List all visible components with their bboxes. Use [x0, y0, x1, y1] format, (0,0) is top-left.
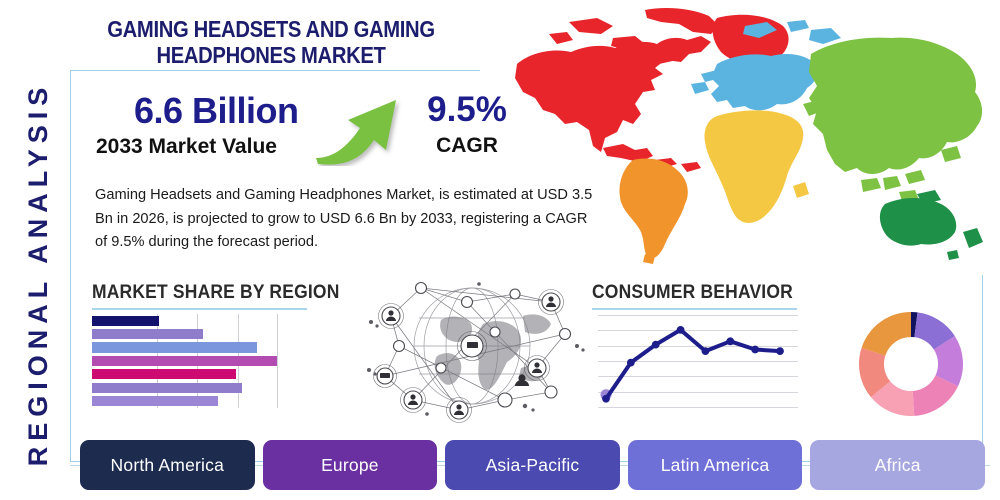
kpi-value-caption: 2033 Market Value — [96, 135, 277, 159]
line-chart-marker — [751, 346, 759, 354]
bar-gridline — [277, 314, 278, 408]
global-network-illustration — [355, 272, 590, 424]
bar-chart-bar — [92, 316, 159, 326]
line-chart-marker — [677, 326, 685, 334]
bar-chart-bar — [92, 396, 218, 406]
line-chart-marker — [627, 359, 635, 367]
section-consumer-behavior-rule — [592, 308, 797, 310]
section-consumer-behavior: CONSUMER BEHAVIOR — [592, 282, 797, 310]
region-button-europe[interactable]: Europe — [263, 440, 438, 490]
line-chart-marker — [652, 341, 660, 349]
line-chart-marker — [602, 395, 610, 403]
bar-chart-bar — [92, 383, 242, 393]
donut-segment — [862, 312, 911, 356]
region-button-latin-america[interactable]: Latin America — [628, 440, 803, 490]
line-chart-marker — [776, 347, 784, 355]
vertical-section-label: REGIONAL ANALYSIS — [16, 64, 60, 484]
region-button-bar: North AmericaEuropeAsia-PacificLatin Ame… — [80, 440, 985, 490]
page-title: GAMING HEADSETS AND GAMING HEADPHONES MA… — [64, 16, 478, 68]
line-chart-series — [598, 312, 798, 410]
kpi-value: 6.6 Billion — [134, 90, 299, 132]
market-share-bar-chart — [92, 314, 277, 408]
consumer-behavior-line-chart — [598, 312, 798, 410]
section-market-share: MARKET SHARE BY REGION — [92, 282, 307, 310]
line-chart-marker — [702, 347, 710, 355]
region-button-asia-pacific[interactable]: Asia-Pacific — [445, 440, 620, 490]
line-chart-marker — [726, 337, 734, 345]
region-button-north-america[interactable]: North America — [80, 440, 255, 490]
bar-chart-bar — [92, 356, 277, 366]
bar-chart-bar — [92, 369, 236, 379]
infographic-root: REGIONAL ANALYSIS GAMING HEADSETS AND GA… — [0, 0, 1000, 500]
growth-arrow-up-icon — [312, 84, 404, 166]
section-market-share-title: MARKET SHARE BY REGION — [92, 282, 290, 304]
section-market-share-rule — [92, 308, 307, 310]
bar-chart-bar — [92, 329, 203, 339]
region-button-africa[interactable]: Africa — [810, 440, 985, 490]
bar-chart-bar — [92, 342, 257, 352]
donut-svg — [855, 308, 967, 420]
section-consumer-behavior-title: CONSUMER BEHAVIOR — [592, 282, 781, 304]
segment-donut-chart — [855, 308, 967, 420]
world-map-icon — [505, 8, 1000, 266]
